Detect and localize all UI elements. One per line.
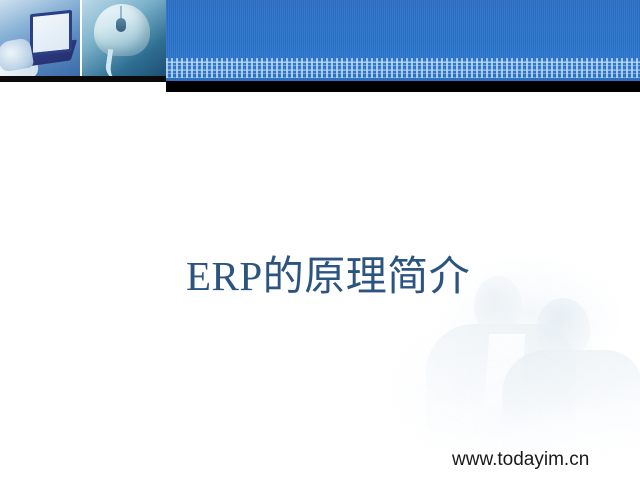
slide-title: ERP的原理简介: [186, 252, 486, 300]
website-url: www.todayim.cn: [452, 448, 589, 472]
mouse-photo-scroll-wheel: [116, 18, 126, 32]
banner-dotted-stripes: [166, 58, 640, 78]
laptop-photo: [0, 0, 80, 76]
mouse-photo: [82, 0, 166, 76]
mouse-photo-cable: [104, 49, 127, 76]
laptop-photo-screen: [30, 10, 72, 56]
presentation-slide: ERP的原理简介 www.todayim.cn: [0, 0, 640, 480]
photo-strip-bottom-rule: [0, 76, 166, 82]
laptop-photo-hand: [0, 37, 34, 72]
header-photo-strip: [0, 0, 166, 76]
banner-stripe-line-upper: [166, 62, 640, 63]
header-banner: [166, 0, 640, 81]
banner-stripe-line-lower: [166, 70, 640, 71]
banner-bottom-rule: [166, 81, 640, 92]
